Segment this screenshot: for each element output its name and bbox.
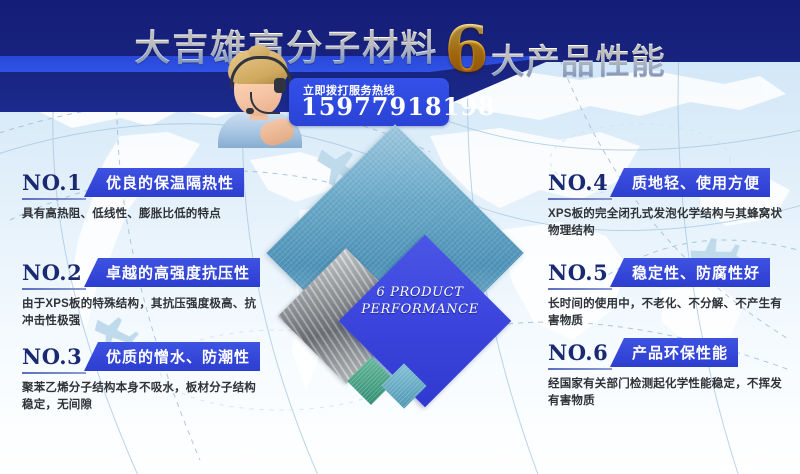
feature-1-title: 优良的保温隔热性 [84, 172, 244, 193]
feature-6-underline [548, 368, 612, 370]
feature-6-banner: 产品环保性能 [610, 338, 738, 367]
hotline-badge[interactable]: 立即拨打服务热线 15977918198 [289, 78, 449, 126]
feature-2-header: NO.2 卓越的高强度抗压性 [22, 258, 280, 288]
title-subtitle: 大产品性能 [491, 34, 666, 83]
feature-item-4[interactable]: NO.4 质地轻、使用方便 XPS板的完全闭孔式发泡化学结构与其蜂窝状物理结构 [548, 168, 800, 240]
feature-6-description: 经国家有关部门检测起化学性能稳定，不挥发有害物质 [548, 376, 784, 410]
feature-item-3[interactable]: NO.3 优质的憎水、防潮性 聚苯乙烯分子结构本身不吸水，板材分子结构稳定，无间… [22, 342, 280, 414]
feature-5-underline [548, 288, 612, 290]
feature-1-number: NO.1 [22, 170, 82, 195]
feature-1-underline [22, 198, 86, 200]
feature-3-title: 优质的憎水、防潮性 [84, 346, 260, 367]
feature-item-6[interactable]: NO.6 产品环保性能 经国家有关部门检测起化学性能稳定，不挥发有害物质 [548, 338, 800, 410]
feature-2-number: NO.2 [22, 260, 82, 285]
feature-3-number: NO.3 [22, 344, 82, 369]
feature-3-underline [22, 372, 86, 374]
feature-5-banner: 稳定性、防腐性好 [610, 258, 770, 287]
feature-4-header: NO.4 质地轻、使用方便 [548, 168, 800, 198]
feature-3-header: NO.3 优质的憎水、防潮性 [22, 342, 280, 372]
feature-4-underline [548, 198, 612, 200]
promo-banner-page: 大吉雄高分子材料 6 大产品性能 立即拨打服务热线 15977918198 6 … [0, 0, 800, 474]
feature-6-header: NO.6 产品环保性能 [548, 338, 800, 368]
feature-item-5[interactable]: NO.5 稳定性、防腐性好 长时间的使用中，不老化、不分解、不产生有害物质 [548, 258, 800, 330]
headset-earpiece-icon [274, 78, 286, 93]
feature-item-2[interactable]: NO.2 卓越的高强度抗压性 由于XPS板的特殊结构，其抗压强度极高、抗冲击性极… [22, 258, 280, 330]
header-title-group: 大吉雄高分子材料 6 大产品性能 [0, 6, 800, 84]
feature-5-header: NO.5 稳定性、防腐性好 [548, 258, 800, 288]
title-number-six: 6 [444, 18, 489, 82]
feature-2-description: 由于XPS板的特殊结构，其抗压强度极高、抗冲击性极强 [22, 296, 258, 330]
feature-5-description: 长时间的使用中，不老化、不分解、不产生有害物质 [548, 296, 784, 330]
feature-2-banner: 卓越的高强度抗压性 [84, 258, 260, 287]
center-diamond-artwork: 6 PRODUCT PERFORMANCE [268, 132, 536, 422]
feature-6-number: NO.6 [548, 340, 608, 365]
feature-3-description: 聚苯乙烯分子结构本身不吸水，板材分子结构稳定，无间隙 [22, 380, 258, 414]
feature-4-banner: 质地轻、使用方便 [610, 168, 770, 197]
feature-2-underline [22, 288, 86, 290]
feature-4-number: NO.4 [548, 170, 608, 195]
feature-3-banner: 优质的憎水、防潮性 [84, 342, 260, 371]
feature-5-number: NO.5 [548, 260, 608, 285]
hotline-number: 15977918198 [301, 95, 496, 119]
center-caption-line1: 6 PRODUCT [352, 284, 488, 301]
feature-6-title: 产品环保性能 [610, 342, 738, 363]
feature-4-title: 质地轻、使用方便 [610, 172, 770, 193]
feature-item-1[interactable]: NO.1 优良的保温隔热性 具有高热阻、低线性、膨胀比低的特点 [22, 168, 280, 223]
headset-mic-tip-icon [246, 108, 254, 114]
feature-2-title: 卓越的高强度抗压性 [84, 262, 260, 283]
feature-1-banner: 优良的保温隔热性 [84, 168, 244, 197]
feature-4-description: XPS板的完全闭孔式发泡化学结构与其蜂窝状物理结构 [548, 206, 784, 240]
feature-1-description: 具有高热阻、低线性、膨胀比低的特点 [22, 206, 258, 223]
center-caption-line2: PERFORMANCE [352, 301, 488, 318]
feature-5-title: 稳定性、防腐性好 [610, 262, 770, 283]
feature-1-header: NO.1 优良的保温隔热性 [22, 168, 280, 198]
center-caption: 6 PRODUCT PERFORMANCE [352, 284, 488, 318]
